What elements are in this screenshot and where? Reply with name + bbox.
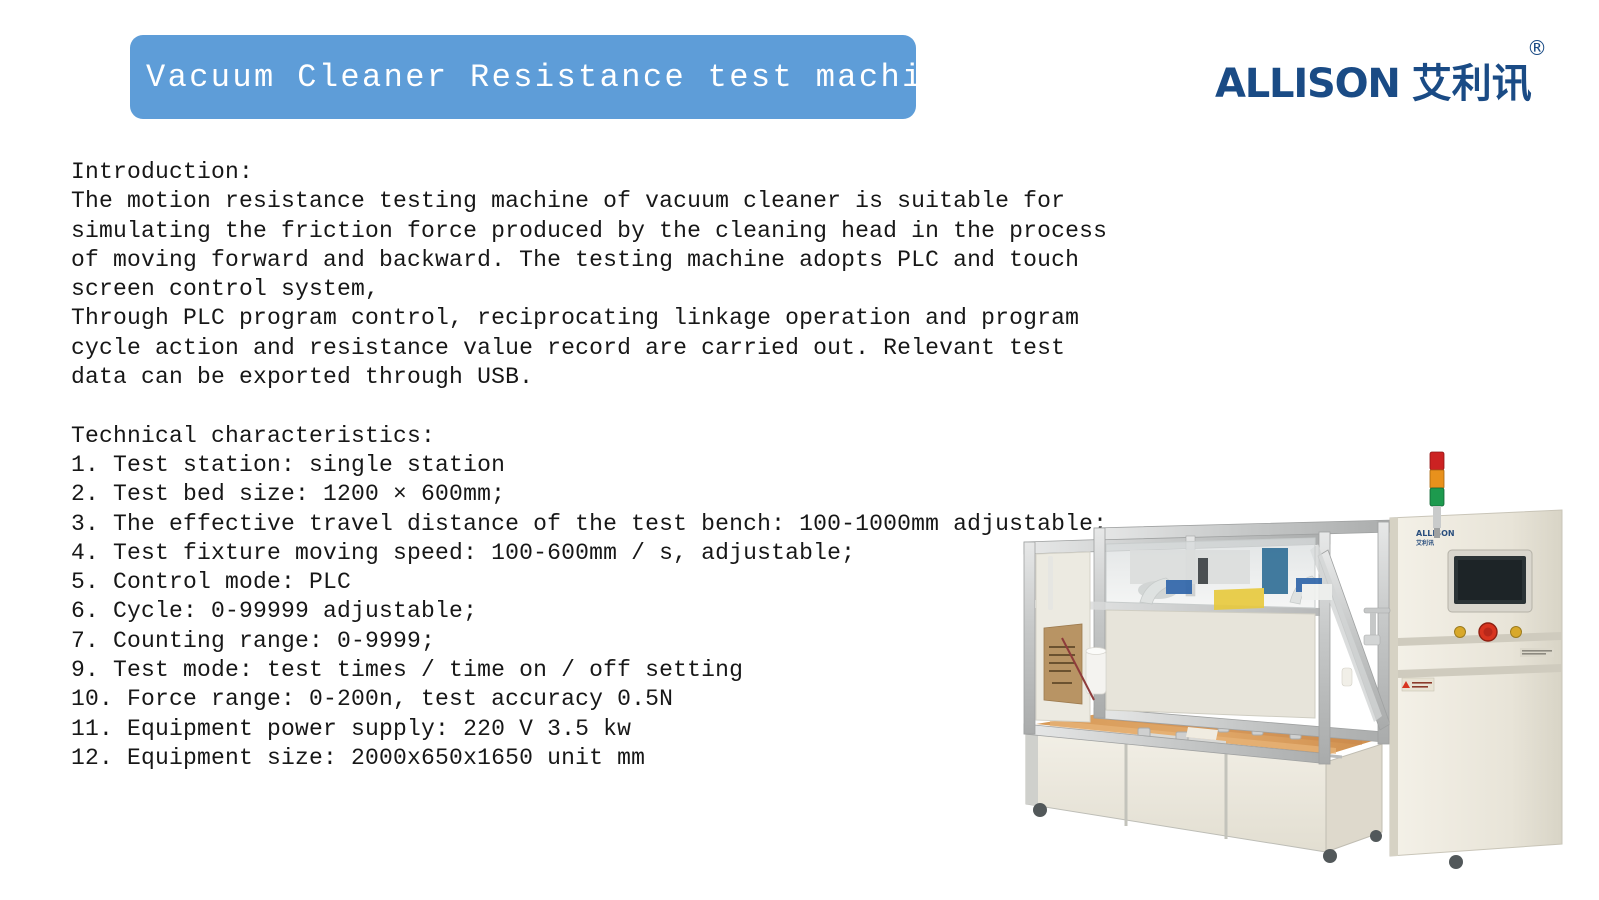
introduction-line: simulating the friction force produced b… — [71, 217, 1001, 246]
tower-light-amber — [1430, 470, 1444, 488]
hmi-touchscreen — [1448, 550, 1532, 612]
specs-heading: Technical characteristics: — [71, 422, 1001, 451]
spec-line: 2. Test bed size: 1200 × 600mm; — [71, 480, 1001, 509]
spec-line: 4. Test fixture moving speed: 100-600mm … — [71, 539, 1001, 568]
spec-line: 5. Control mode: PLC — [71, 568, 1001, 597]
paper-roll — [1086, 648, 1106, 695]
spec-line: 7. Counting range: 0-9999; — [71, 627, 1001, 656]
page-title: Vacuum Cleaner Resistance test machine — [130, 59, 967, 96]
spec-line: 12. Equipment size: 2000x650x1650 unit m… — [71, 744, 1001, 773]
spec-line: 9. Test mode: test times / time on / off… — [71, 656, 1001, 685]
introduction-line: of moving forward and backward. The test… — [71, 246, 1001, 275]
introduction-line: Through PLC program control, reciprocati… — [71, 304, 1001, 333]
cable-bracket — [1342, 668, 1352, 686]
tower-light-green — [1430, 488, 1444, 506]
indicator-button-right — [1511, 627, 1522, 638]
machine-product-photo: ALLISON 艾利讯 — [990, 432, 1570, 872]
spec-line: 1. Test station: single station — [71, 451, 1001, 480]
indicator-button-left — [1455, 627, 1466, 638]
introduction-line: The motion resistance testing machine of… — [71, 187, 1001, 216]
introduction-line: screen control system, — [71, 275, 1001, 304]
brand-logo: ALLISON 艾利讯 ® — [1205, 26, 1555, 122]
brand-logo-latin: ALLISON — [1215, 64, 1400, 104]
control-cabinet: ALLISON 艾利讯 — [1390, 510, 1562, 856]
spec-line: 10. Force range: 0-200n, test accuracy 0… — [71, 685, 1001, 714]
spec-line: 6. Cycle: 0-99999 adjustable; — [71, 597, 1001, 626]
brand-logo-row: ALLISON 艾利讯 — [1215, 64, 1532, 104]
introduction-line: cycle action and resistance value record… — [71, 334, 1001, 363]
registered-trademark-icon: ® — [1527, 38, 1547, 58]
content-text-block: Introduction: The motion resistance test… — [71, 158, 1001, 773]
spec-line: 3. The effective travel distance of the … — [71, 510, 1001, 539]
svg-text:艾利讯: 艾利讯 — [1416, 539, 1434, 547]
brand-logo-cjk: 艾利讯 — [1412, 64, 1532, 104]
introduction-heading: Introduction: — [71, 158, 1001, 187]
paragraph-spacer — [71, 392, 1001, 421]
tower-light-red — [1430, 452, 1444, 470]
introduction-line: data can be exported through USB. — [71, 363, 1001, 392]
page-title-banner: Vacuum Cleaner Resistance test machine — [130, 35, 916, 119]
spec-line: 11. Equipment power supply: 220 V 3.5 kw — [71, 715, 1001, 744]
